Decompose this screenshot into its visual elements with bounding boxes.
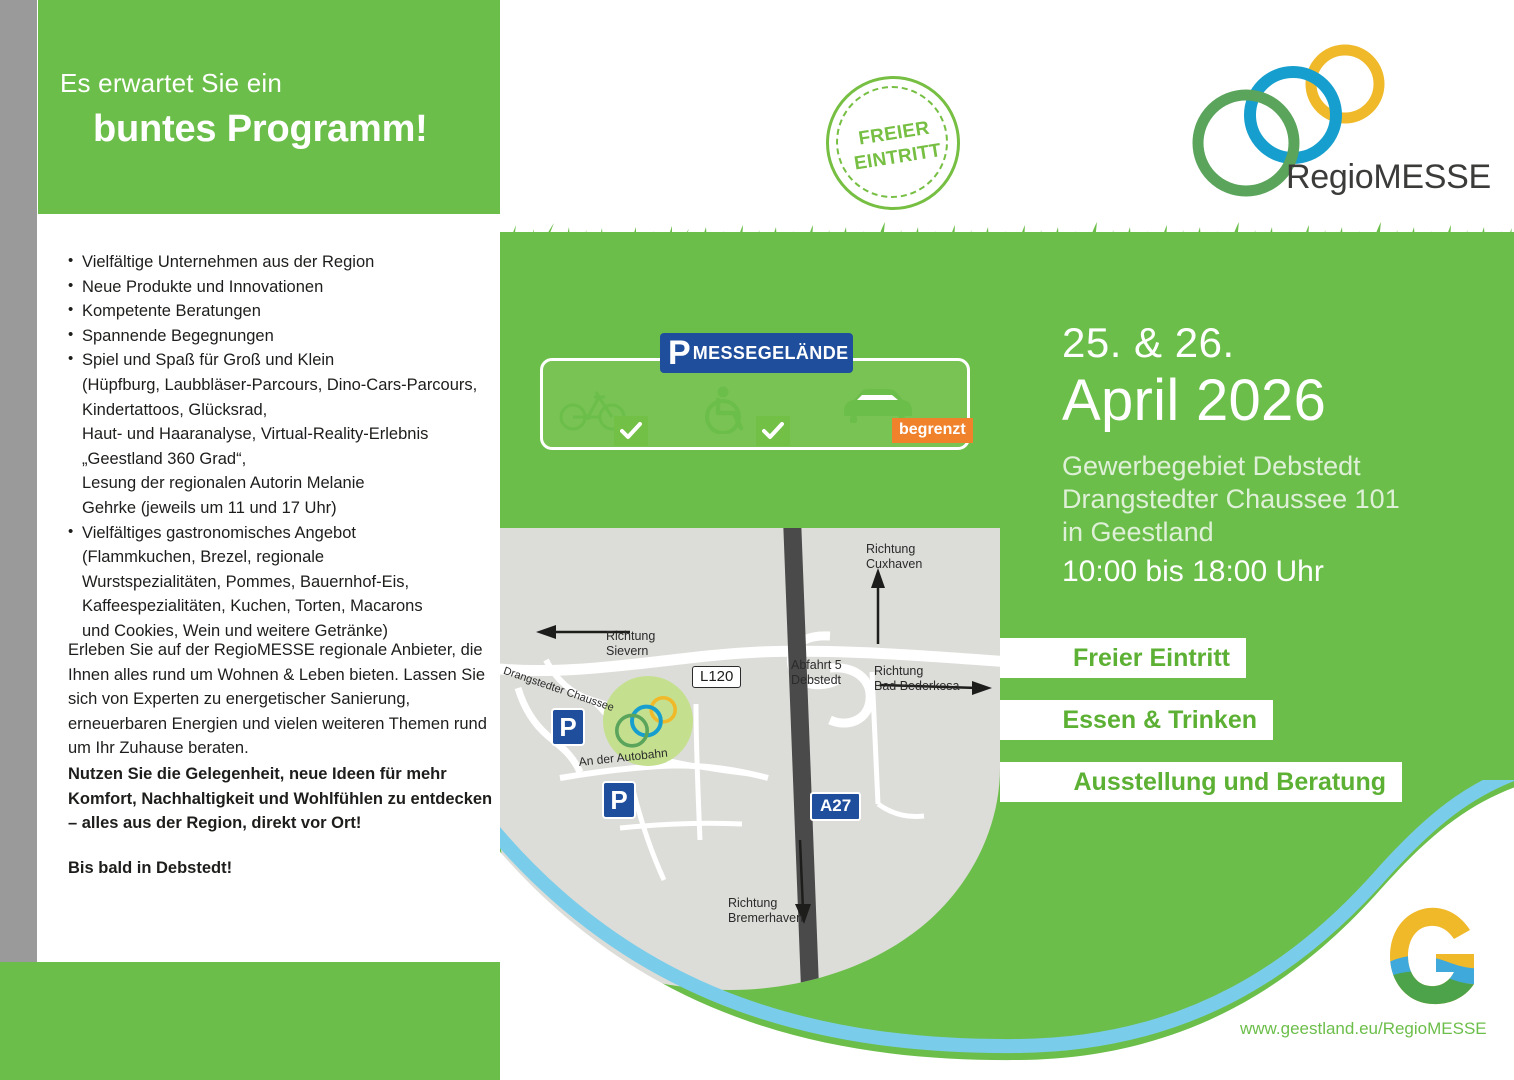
feature-sub-text: Kaffeespezialitäten, Kuchen, Torten, Mac… (82, 594, 488, 619)
cta-paragraph: Nutzen Sie die Gelegenheit, neue Ideen f… (68, 762, 498, 836)
bicycle-parking-item (558, 386, 688, 448)
feature-main-text: Kompetente Beratungen (82, 302, 261, 320)
page-edge-strip (0, 0, 37, 1012)
feature-sub-text: (Hüpfburg, Laubbläser-Parcours, Dino-Car… (82, 373, 488, 398)
header-line-2: buntes Programm! (93, 108, 428, 151)
map-label-richtung-sievern: Richtung Sievern (606, 629, 655, 659)
check-icon (762, 422, 784, 440)
feature-main-text: Spiel und Spaß für Groß und Klein (82, 351, 334, 369)
feature-list-item: Spannende Begegnungen (68, 324, 488, 349)
wheelchair-available-check (756, 416, 790, 446)
grass-silhouette-icon (500, 215, 1514, 275)
map-label-abfahrt-debstedt: Abfahrt 5 Debstedt (791, 658, 842, 688)
event-hours: 10:00 bis 18:00 Uhr (1062, 553, 1482, 591)
car-parking-item: begrenzt (840, 386, 970, 448)
free-entry-stamp: FREIER EINTRITT (826, 76, 960, 210)
bicycle-available-check (614, 416, 648, 446)
feature-list: Vielfältige Unternehmen aus der RegionNe… (68, 250, 488, 644)
highlight-badge-freier-eintritt: Freier Eintritt (1000, 638, 1246, 678)
feature-list-item: Spiel und Spaß für Groß und Klein(Hüpfbu… (68, 348, 488, 520)
regiomesse-logo: RegioMESSE (1180, 42, 1480, 212)
highlight-badge-essen-trinken: Essen & Trinken (1000, 700, 1273, 740)
feature-main-text: Vielfältige Unternehmen aus der Region (82, 253, 374, 271)
map-label-richtung-bad-bederkesa: Richtung Bad Bederkesa (874, 664, 959, 694)
feature-sub-text: Kindertattoos, Glücksrad, (82, 398, 488, 423)
address-line-3: in Geestland (1062, 516, 1482, 549)
check-icon (620, 422, 642, 440)
website-url: www.geestland.eu/RegioMESSE (1240, 1019, 1487, 1039)
intro-paragraph: Erleben Sie auf der RegioMESSE regionale… (68, 638, 498, 761)
programme-header-panel: Es erwartet Sie ein buntes Programm! (38, 0, 500, 214)
map-label-richtung-cuxhaven: Richtung Cuxhaven (866, 542, 922, 572)
flyer-page: FREIER EINTRITT RegioMESSE Es erwartet S… (0, 0, 1514, 1080)
parking-icon-row: begrenzt (540, 386, 970, 448)
address-line-1: Gewerbegebiet Debstedt (1062, 450, 1482, 483)
stamp-text: FREIER EINTRITT (819, 69, 972, 222)
feature-sub-text: Wurstspezialitäten, Pommes, Bauernhof-Ei… (82, 570, 488, 595)
road-shield-l120: L120 (692, 666, 741, 688)
bottom-green-block (0, 962, 500, 1080)
feature-sub-text: Haut- und Haaranalyse, Virtual-Reality-E… (82, 422, 488, 447)
wheelchair-parking-item (700, 386, 830, 448)
address-line-2: Drangstedter Chaussee 101 (1062, 483, 1482, 516)
parking-area-label: MESSEGELÄNDE (693, 343, 849, 364)
feature-list-item: Vielfältige Unternehmen aus der Region (68, 250, 488, 275)
map-parking-marker-1: P (551, 708, 585, 746)
regiomesse-wordmark: RegioMESSE (1286, 158, 1491, 197)
header-line-1: Es erwartet Sie ein (60, 68, 282, 99)
car-limited-badge: begrenzt (892, 418, 973, 443)
feature-main-text: Spannende Begegnungen (82, 327, 274, 345)
event-address: Gewerbegebiet Debstedt Drangstedter Chau… (1062, 450, 1482, 549)
parking-p-icon: P (668, 336, 691, 370)
feature-sub-text: (Flammkuchen, Brezel, regionale (82, 545, 488, 570)
event-days: 25. & 26. (1062, 318, 1482, 368)
feature-sub-text: Lesung der regionalen Autorin Melanie (82, 471, 488, 496)
event-date-block: 25. & 26. April 2026 Gewerbegebiet Debst… (1062, 318, 1482, 591)
closing-paragraph: Bis bald in Debstedt! (68, 856, 498, 881)
feature-sub-text: „Geestland 360 Grad“, (82, 447, 488, 472)
event-month-year: April 2026 (1062, 368, 1482, 434)
feature-main-text: Vielfältiges gastronomisches Angebot (82, 524, 356, 542)
programme-body-panel: Vielfältige Unternehmen aus der RegionNe… (38, 214, 500, 962)
feature-main-text: Neue Produkte und Innovationen (82, 278, 323, 296)
feature-sub-text: Gehrke (jeweils um 11 und 17 Uhr) (82, 496, 488, 521)
feature-list-item: Neue Produkte und Innovationen (68, 275, 488, 300)
geestland-logo-icon (1382, 900, 1490, 1012)
parking-sign-header: P MESSEGELÄNDE (660, 333, 853, 373)
feature-list-item: Vielfältiges gastronomisches Angebot(Fla… (68, 521, 488, 644)
feature-list-item: Kompetente Beratungen (68, 299, 488, 324)
